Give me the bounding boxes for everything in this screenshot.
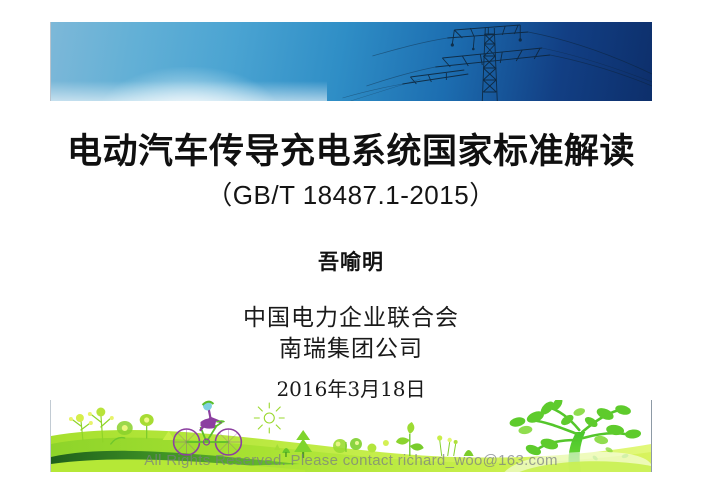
organization-line-1: 中国电力企业联合会 [0,303,702,334]
organization-line-2: 南瑞集团公司 [0,334,702,365]
organization-block: 中国电力企业联合会 南瑞集团公司 [0,303,702,365]
slide-subtitle-standard-number: （GB/T 18487.1-2015） [0,180,702,210]
presentation-date: 2016年3月18日 [0,376,702,402]
presentation-slide: 电动汽车传导充电系统国家标准解读 （GB/T 18487.1-2015） 吾喻明… [0,0,702,496]
header-banner-image [50,22,652,101]
footer-eco-banner-image [50,400,652,472]
slide-main-title: 电动汽车传导充电系统国家标准解读 [0,131,702,173]
presenter-name: 吾喻明 [0,249,702,275]
transmission-tower-icon [51,22,652,101]
